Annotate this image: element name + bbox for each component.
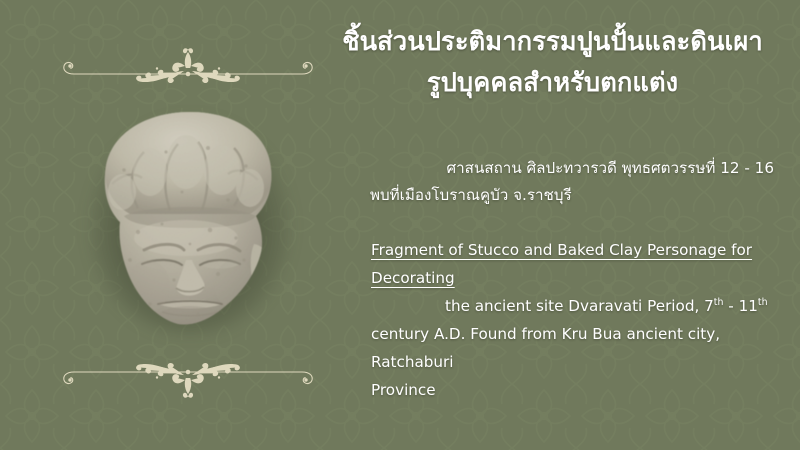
ordinal-suffix-7th: th [714, 297, 724, 308]
english-heading-line-1: Fragment of Stucco and Baked Clay Person… [371, 236, 752, 264]
stucco-head-sculpture [78, 104, 302, 346]
ornament-divider-bottom [56, 356, 320, 400]
english-description: the ancient site Dvaravati Period, 7th -… [371, 292, 776, 404]
english-heading-line-2: Decorating [371, 264, 455, 292]
artifact-image [78, 104, 302, 346]
title-line-2: รูปบุคคลสำหรับตกแต่ง [330, 63, 775, 104]
english-line-1-mid: - 11 [723, 297, 757, 315]
thai-line-2: พบที่เมืองโบราณคูบัว จ.ราชบุรี [362, 182, 780, 209]
ornament-divider-top [56, 46, 320, 90]
page-title: ชิ้นส่วนประติมากรรมปูนปั้นและดินเผา รูปบ… [330, 22, 775, 104]
english-line-3: Ratchaburi [371, 348, 776, 376]
thai-description: ศาสนสถาน ศิลปะทวารวดี พุทธศตวรรษที่ 12 -… [362, 155, 780, 209]
slide-canvas: ชิ้นส่วนประติมากรรมปูนปั้นและดินเผา รูปบ… [0, 0, 800, 450]
english-line-2: century A.D. Found from Kru Bua ancient … [371, 320, 776, 348]
thai-line-1: ศาสนสถาน ศิลปะทวารวดี พุทธศตวรรษที่ 12 -… [362, 155, 780, 182]
english-line-1: the ancient site Dvaravati Period, 7th -… [371, 292, 776, 320]
title-line-1: ชิ้นส่วนประติมากรรมปูนปั้นและดินเผา [330, 22, 775, 63]
english-heading: Fragment of Stucco and Baked Clay Person… [371, 236, 771, 292]
english-line-1-pre: the ancient site Dvaravati Period, 7 [445, 297, 714, 315]
ordinal-suffix-11th: th [758, 297, 768, 308]
english-line-4: Province [371, 376, 776, 404]
